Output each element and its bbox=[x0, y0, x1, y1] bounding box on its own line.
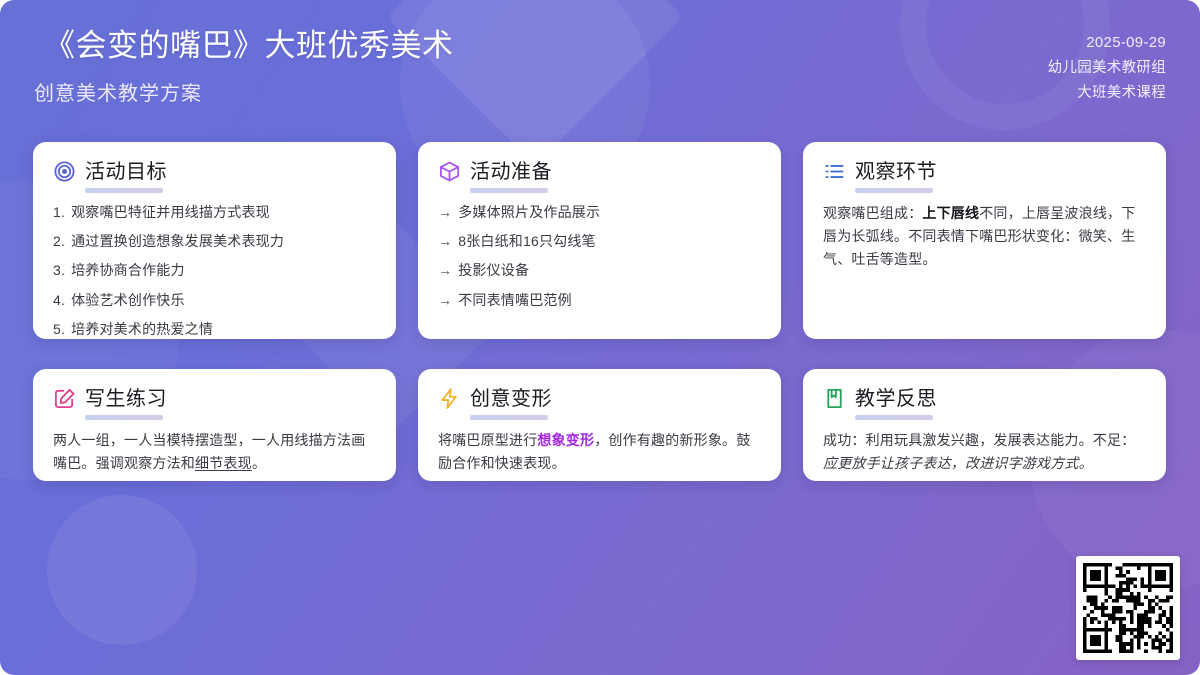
target-icon bbox=[53, 160, 76, 183]
card-title: 活动目标 bbox=[85, 161, 167, 183]
arrow-icon: → bbox=[438, 202, 452, 223]
card-body: 成功：利用玩具激发兴趣，发展表达能力。不足：应更放手让孩子表达，改进识字游戏方式… bbox=[823, 429, 1146, 475]
card-header: 观察环节 bbox=[823, 160, 1146, 183]
card-paragraph: 成功：利用玩具激发兴趣，发展表达能力。不足：应更放手让孩子表达，改进识字游戏方式… bbox=[823, 429, 1146, 475]
card-grid: 活动目标1.观察嘴巴特征并用线描方式表现2.通过置换创造想象发展美术表现力3.培… bbox=[33, 142, 1167, 481]
list-item: →不同表情嘴巴范例 bbox=[438, 290, 761, 311]
title-underline bbox=[855, 415, 933, 420]
card-4: 创意变形将嘴巴原型进行想象变形，创作有趣的新形象。鼓励合作和快速表现。 bbox=[418, 369, 781, 481]
title-underline bbox=[470, 415, 548, 420]
text-segment: 上下唇线 bbox=[922, 205, 979, 221]
header-org: 幼儿园美术教研组 bbox=[1048, 56, 1166, 81]
card-body: →多媒体照片及作品展示→8张白纸和16只勾线笔→投影仪设备→不同表情嘴巴范例 bbox=[438, 202, 761, 310]
list-item-label: 不同表情嘴巴范例 bbox=[458, 290, 572, 311]
card-5: 教学反思成功：利用玩具激发兴趣，发展表达能力。不足：应更放手让孩子表达，改进识字… bbox=[803, 369, 1166, 481]
card-2: 观察环节观察嘴巴组成：上下唇线不同，上唇呈波浪线，下唇为长弧线。不同表情下嘴巴形… bbox=[803, 142, 1166, 339]
list-item: →投影仪设备 bbox=[438, 260, 761, 281]
list-item: 4.体验艺术创作快乐 bbox=[53, 290, 376, 311]
page-title: 《会变的嘴巴》大班优秀美术 bbox=[34, 26, 454, 66]
poster-canvas: 《会变的嘴巴》大班优秀美术 创意美术教学方案 2025-09-29 幼儿园美术教… bbox=[0, 0, 1200, 675]
list-item: 3.培养协商合作能力 bbox=[53, 260, 376, 281]
poster-header: 《会变的嘴巴》大班优秀美术 创意美术教学方案 2025-09-29 幼儿园美术教… bbox=[0, 0, 1200, 135]
card-list: 1.观察嘴巴特征并用线描方式表现2.通过置换创造想象发展美术表现力3.培养协商合… bbox=[53, 202, 376, 339]
text-segment: 观察嘴巴组成： bbox=[823, 205, 922, 221]
card-title: 活动准备 bbox=[470, 161, 552, 183]
list-item: 1.观察嘴巴特征并用线描方式表现 bbox=[53, 202, 376, 223]
list-item-label: 8张白纸和16只勾线笔 bbox=[458, 231, 596, 252]
arrow-icon: → bbox=[438, 260, 452, 281]
qr-code[interactable] bbox=[1076, 556, 1180, 660]
header-date: 2025-09-29 bbox=[1086, 30, 1166, 56]
card-title: 写生练习 bbox=[85, 388, 167, 410]
card-header: 活动目标 bbox=[53, 160, 376, 183]
decor-circle-lower-left bbox=[47, 495, 197, 645]
card-body: 观察嘴巴组成：上下唇线不同，上唇呈波浪线，下唇为长弧线。不同表情下嘴巴形状变化：… bbox=[823, 202, 1146, 270]
list-item-label: 投影仪设备 bbox=[458, 260, 529, 281]
page-subtitle: 创意美术教学方案 bbox=[34, 77, 454, 106]
card-0: 活动目标1.观察嘴巴特征并用线描方式表现2.通过置换创造想象发展美术表现力3.培… bbox=[33, 142, 396, 339]
card-paragraph: 将嘴巴原型进行想象变形，创作有趣的新形象。鼓励合作和快速表现。 bbox=[438, 429, 761, 475]
text-segment: 。 bbox=[252, 455, 266, 471]
text-segment: 将嘴巴原型进行 bbox=[438, 432, 537, 448]
header-meta-group: 2025-09-29 幼儿园美术教研组 大班美术课程 bbox=[1048, 26, 1166, 106]
qr-code-image bbox=[1083, 563, 1173, 653]
title-underline bbox=[855, 188, 933, 193]
book-icon bbox=[823, 387, 846, 410]
title-underline bbox=[85, 415, 163, 420]
text-segment: 应更放手让孩子表达，改进识字游戏方式。 bbox=[823, 455, 1093, 471]
list-item: 2.通过置换创造想象发展美术表现力 bbox=[53, 231, 376, 252]
lightning-icon bbox=[438, 387, 461, 410]
card-1: 活动准备→多媒体照片及作品展示→8张白纸和16只勾线笔→投影仪设备→不同表情嘴巴… bbox=[418, 142, 781, 339]
card-header: 活动准备 bbox=[438, 160, 761, 183]
list-number: 2. bbox=[53, 231, 65, 252]
card-header: 创意变形 bbox=[438, 387, 761, 410]
card-header: 写生练习 bbox=[53, 387, 376, 410]
cube-icon bbox=[438, 160, 461, 183]
list-number: 1. bbox=[53, 202, 65, 223]
text-segment: 想象变形 bbox=[537, 432, 594, 448]
list-icon bbox=[823, 160, 846, 183]
list-item-label: 观察嘴巴特征并用线描方式表现 bbox=[71, 202, 270, 223]
list-item: →多媒体照片及作品展示 bbox=[438, 202, 761, 223]
card-title: 观察环节 bbox=[855, 161, 937, 183]
list-item-label: 培养协商合作能力 bbox=[71, 260, 185, 281]
header-course: 大班美术课程 bbox=[1077, 81, 1166, 106]
title-underline bbox=[85, 188, 163, 193]
card-list: →多媒体照片及作品展示→8张白纸和16只勾线笔→投影仪设备→不同表情嘴巴范例 bbox=[438, 202, 761, 310]
card-body: 两人一组，一人当模特摆造型，一人用线描方法画嘴巴。强调观察方法和细节表现。 bbox=[53, 429, 376, 475]
list-item-label: 多媒体照片及作品展示 bbox=[458, 202, 600, 223]
card-paragraph: 两人一组，一人当模特摆造型，一人用线描方法画嘴巴。强调观察方法和细节表现。 bbox=[53, 429, 376, 475]
card-body: 将嘴巴原型进行想象变形，创作有趣的新形象。鼓励合作和快速表现。 bbox=[438, 429, 761, 475]
list-item-label: 培养对美术的热爱之情 bbox=[71, 319, 213, 339]
text-segment: 细节表现 bbox=[195, 455, 252, 471]
list-item: →8张白纸和16只勾线笔 bbox=[438, 231, 761, 252]
edit-square-icon bbox=[53, 387, 76, 410]
list-item-label: 通过置换创造想象发展美术表现力 bbox=[71, 231, 284, 252]
arrow-icon: → bbox=[438, 290, 452, 311]
card-title: 创意变形 bbox=[470, 388, 552, 410]
list-number: 5. bbox=[53, 319, 65, 339]
card-title: 教学反思 bbox=[855, 388, 937, 410]
card-header: 教学反思 bbox=[823, 387, 1146, 410]
list-item-label: 体验艺术创作快乐 bbox=[71, 290, 185, 311]
card-paragraph: 观察嘴巴组成：上下唇线不同，上唇呈波浪线，下唇为长弧线。不同表情下嘴巴形状变化：… bbox=[823, 202, 1146, 270]
title-underline bbox=[470, 188, 548, 193]
card-3: 写生练习两人一组，一人当模特摆造型，一人用线描方法画嘴巴。强调观察方法和细节表现… bbox=[33, 369, 396, 481]
card-body: 1.观察嘴巴特征并用线描方式表现2.通过置换创造想象发展美术表现力3.培养协商合… bbox=[53, 202, 376, 339]
list-number: 3. bbox=[53, 260, 65, 281]
list-number: 4. bbox=[53, 290, 65, 311]
arrow-icon: → bbox=[438, 231, 452, 252]
list-item: 5.培养对美术的热爱之情 bbox=[53, 319, 376, 339]
text-segment: 成功：利用玩具激发兴趣，发展表达能力。不足： bbox=[823, 432, 1135, 448]
header-left-group: 《会变的嘴巴》大班优秀美术 创意美术教学方案 bbox=[34, 26, 454, 106]
